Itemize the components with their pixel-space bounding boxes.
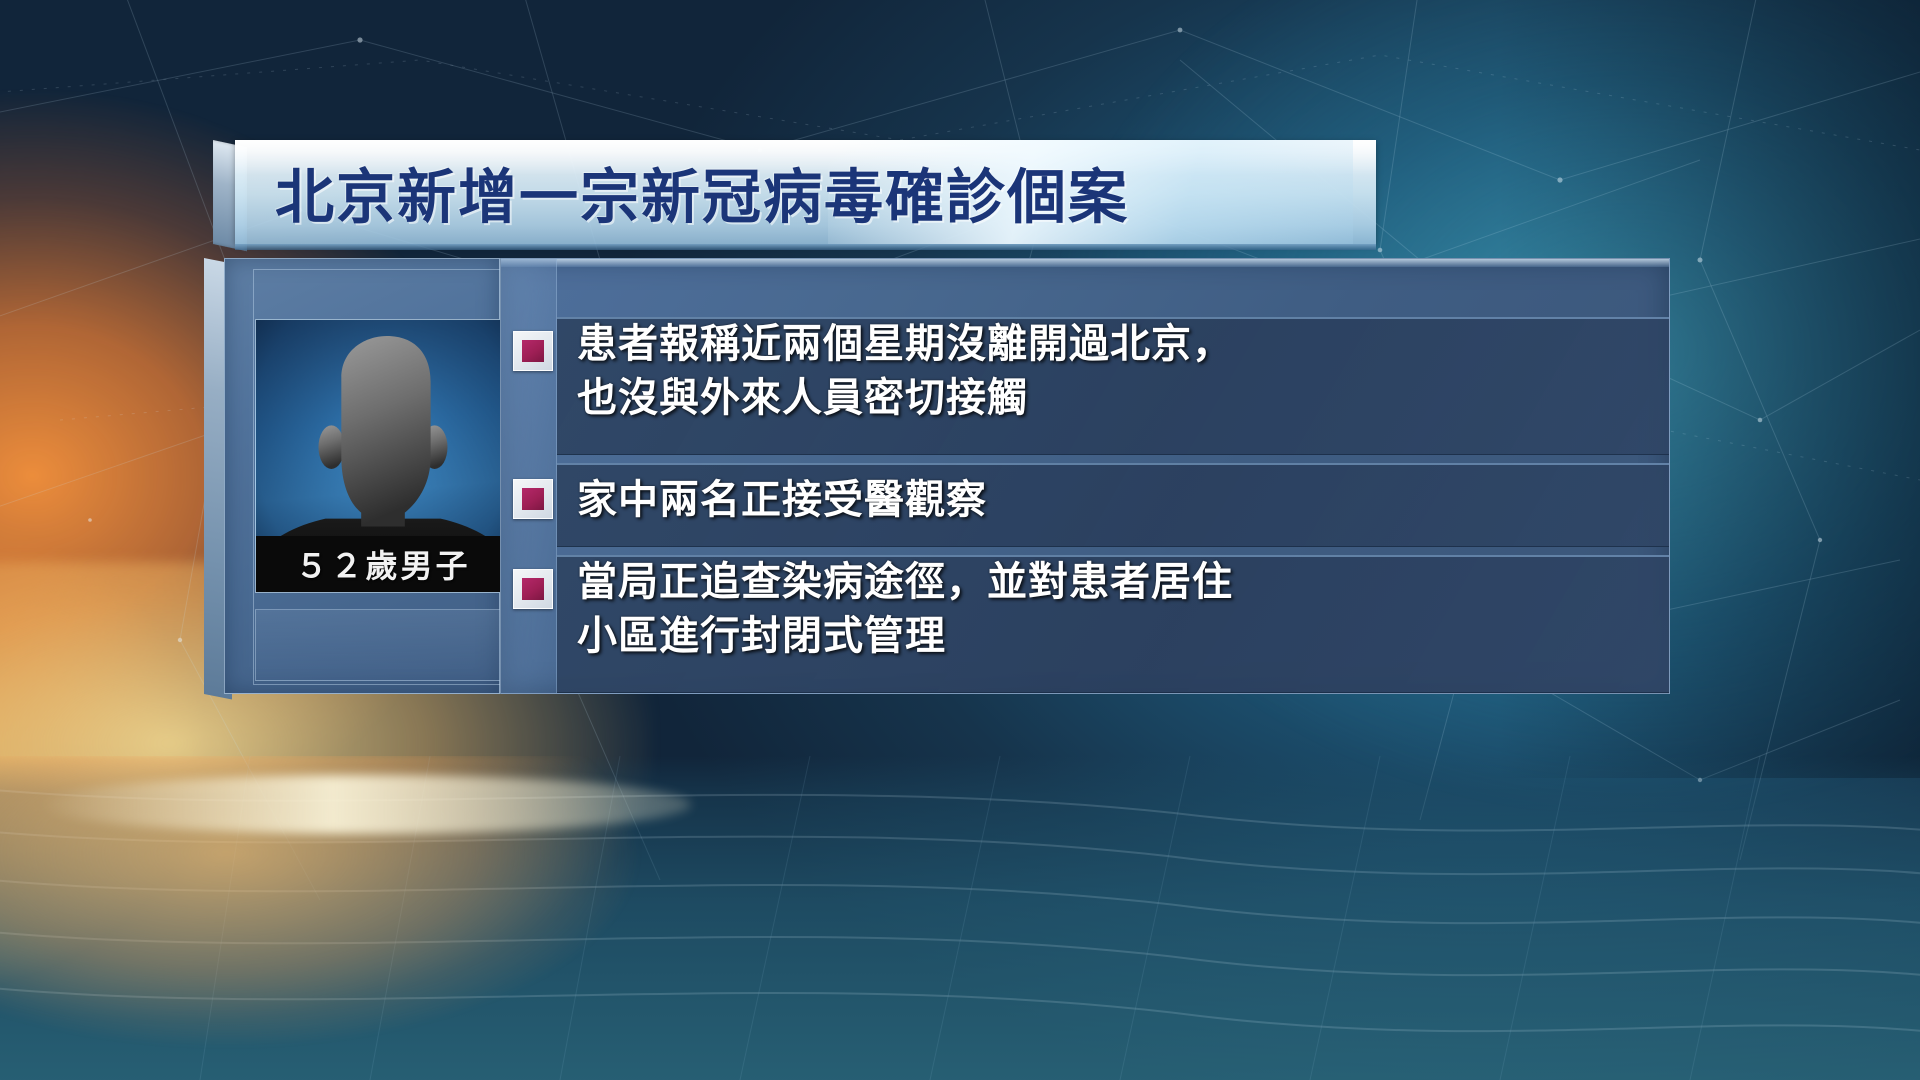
square-bullet-icon — [513, 331, 553, 371]
content-board: ５２歲男子 患者報稱近兩個星期沒離開過北京， 也沒與外來人員密切接觸 — [204, 258, 1670, 694]
floor-highlight-streak — [38, 775, 691, 833]
square-bullet-fill — [522, 578, 544, 600]
bullet-text: 當局正追查染病途徑，並對患者居住 小區進行封閉式管理 — [577, 555, 1257, 663]
bullet-text: 家中兩名正接受醫觀察 — [577, 473, 1011, 527]
list-item: 當局正追查染病途徑，並對患者居住 小區進行封閉式管理 — [501, 555, 1669, 693]
photo-caption-bar: ５２歲男子 — [256, 536, 510, 592]
bullet-list: 患者報稱近兩個星期沒離開過北京， 也沒與外來人員密切接觸 家中兩名正接受醫觀察 … — [501, 267, 1669, 693]
background-reflective-floor — [0, 756, 1920, 1080]
photo-panel-lower-box — [255, 609, 511, 681]
list-item: 患者報稱近兩個星期沒離開過北京， 也沒與外來人員密切接觸 — [501, 317, 1669, 455]
bullet-text: 患者報稱近兩個星期沒離開過北京， 也沒與外來人員密切接觸 — [577, 317, 1257, 425]
square-bullet-fill — [522, 488, 544, 510]
square-bullet-icon — [513, 569, 553, 609]
square-bullet-fill — [522, 340, 544, 362]
graphic-stage: 北京新增一宗新冠病毒確診個案 — [0, 0, 1920, 1080]
subject-photo: ５２歲男子 — [255, 319, 511, 593]
bullets-panel: 患者報稱近兩個星期沒離開過北京， 也沒與外來人員密切接觸 家中兩名正接受醫觀察 … — [500, 258, 1670, 694]
bullets-panel-top-strip — [501, 259, 1669, 267]
page-title: 北京新增一宗新冠病毒確診個案 — [275, 150, 1129, 235]
list-item: 家中兩名正接受醫觀察 — [501, 463, 1669, 547]
headline-bar: 北京新增一宗新冠病毒確診個案 — [213, 140, 1376, 244]
photo-panel: ５２歲男子 — [204, 258, 500, 694]
photo-panel-face: ５２歲男子 — [224, 258, 500, 694]
photo-caption-text: ５２歲男子 — [295, 541, 470, 587]
square-bullet-icon — [513, 479, 553, 519]
headline-bar-underline — [235, 244, 1376, 250]
